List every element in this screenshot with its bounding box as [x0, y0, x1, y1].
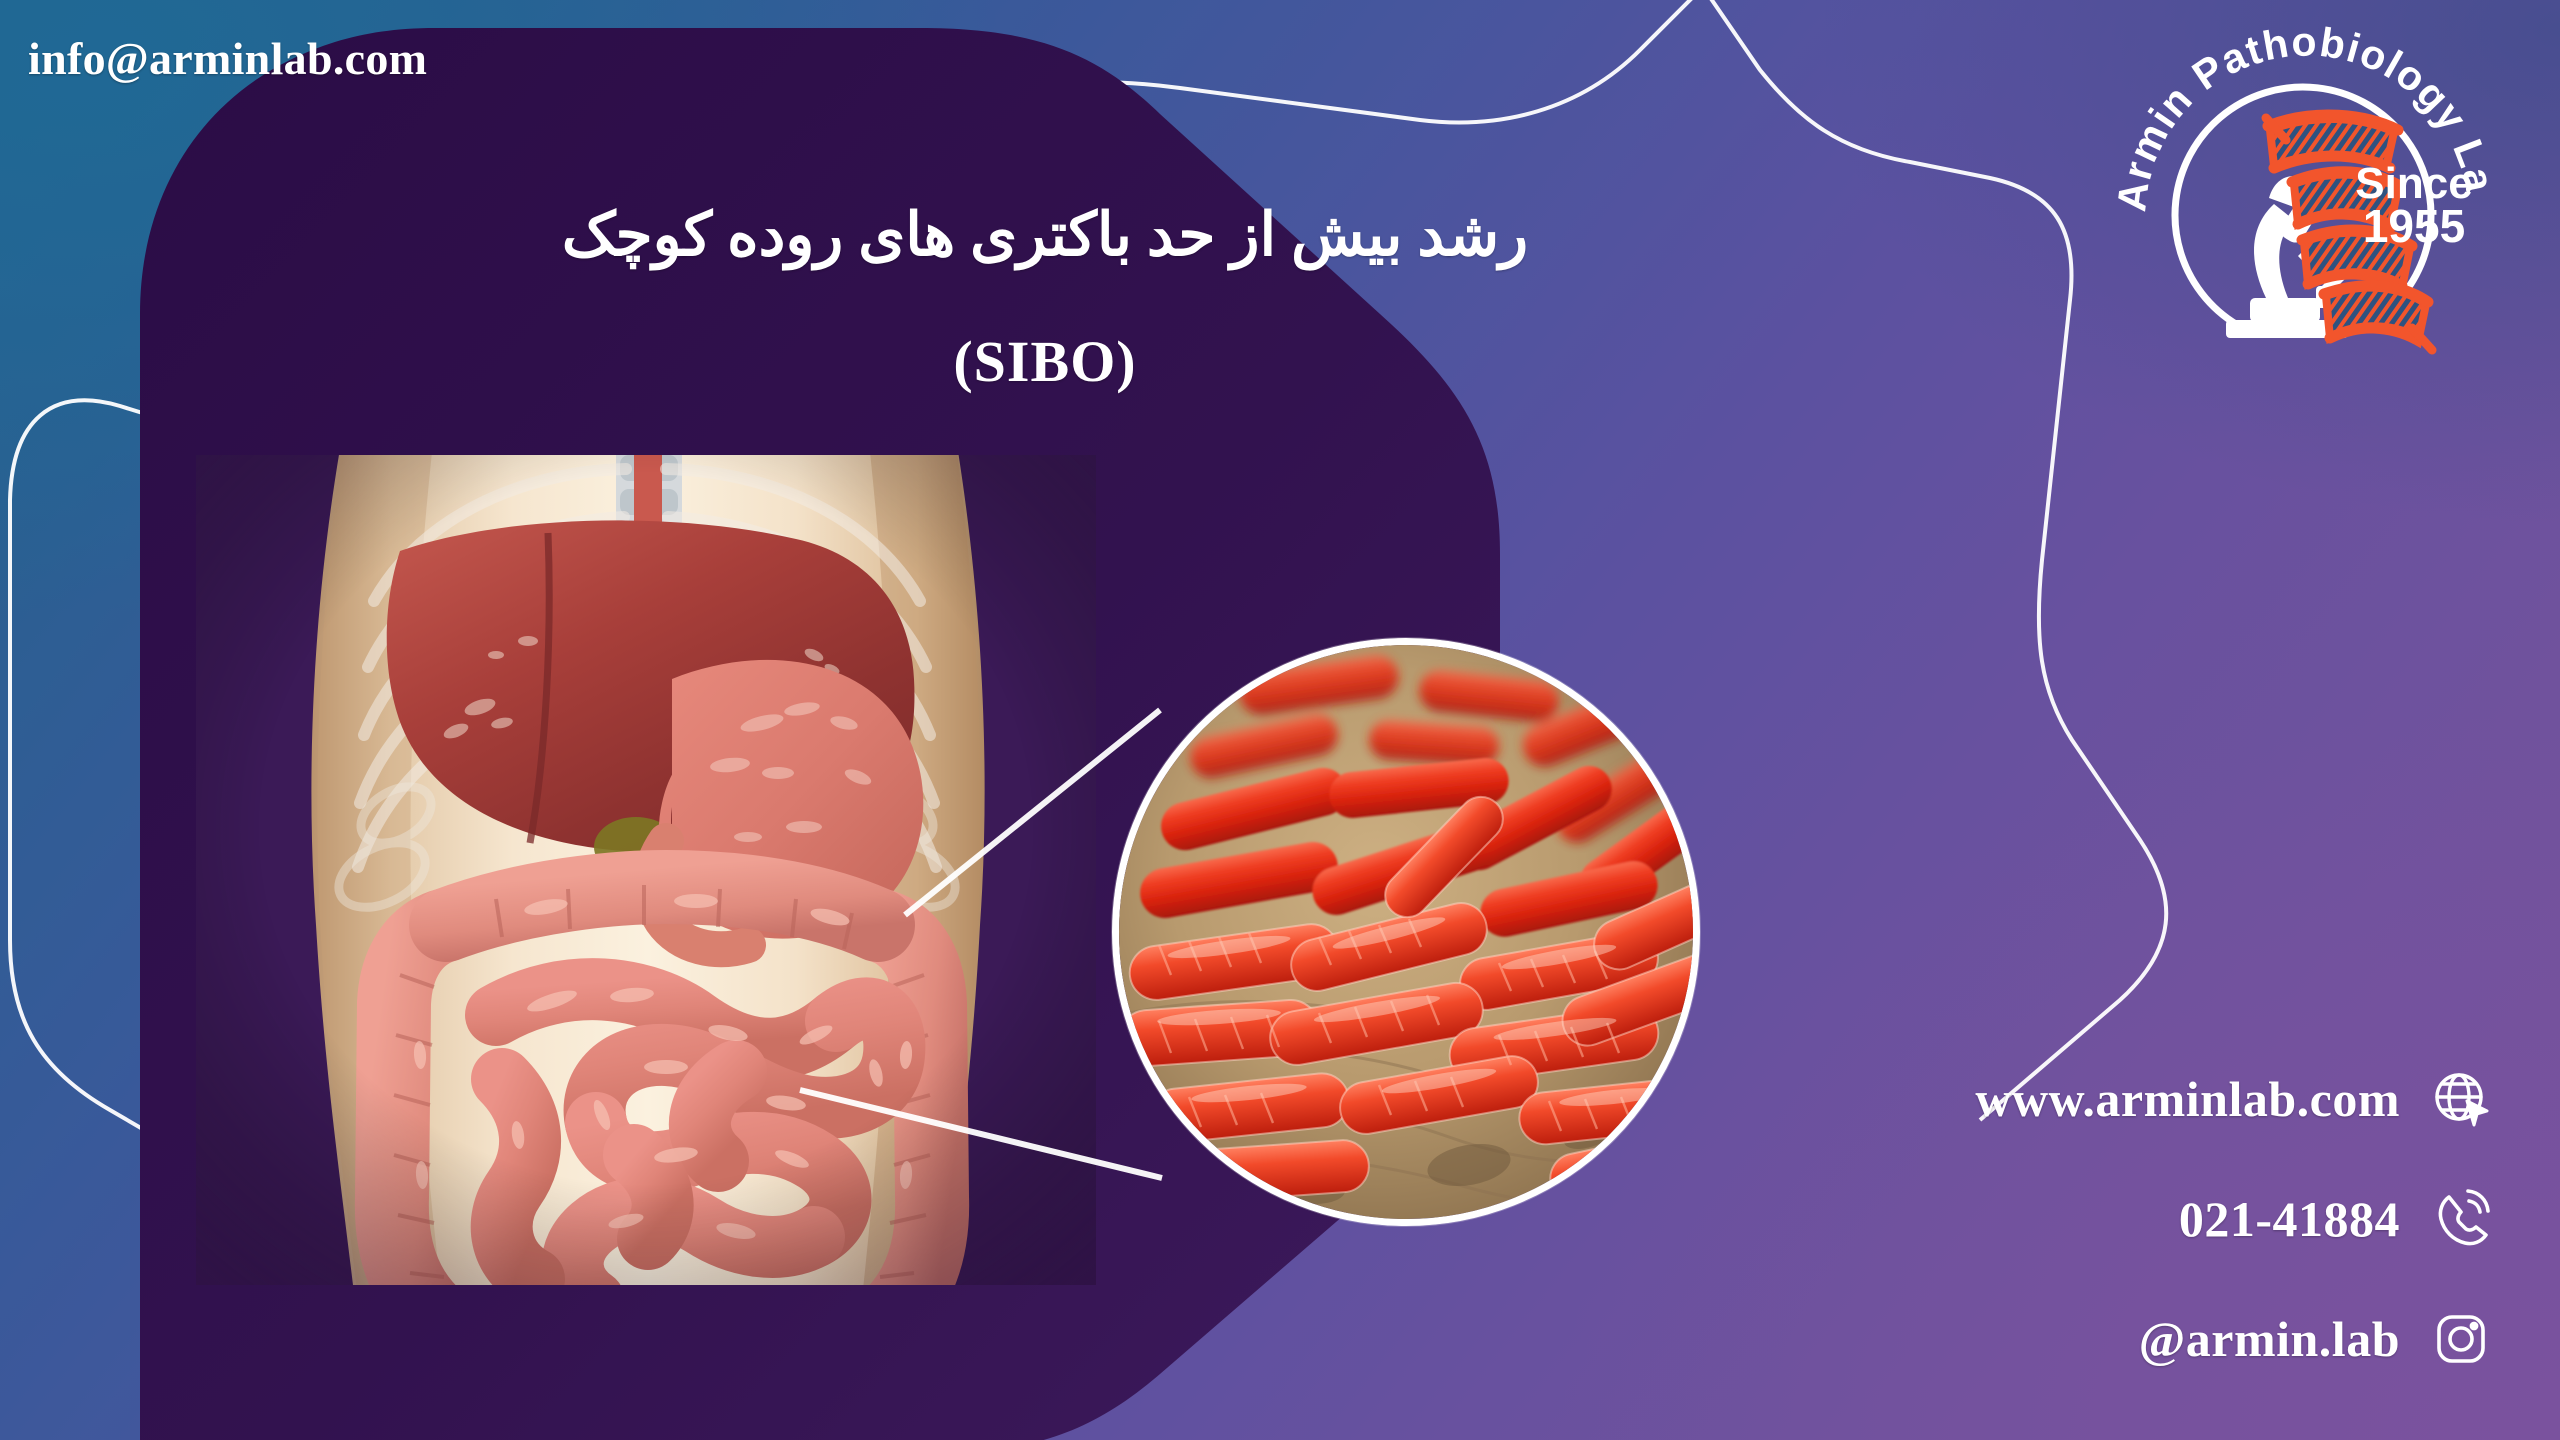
phone-number[interactable]: 021-41884 — [2179, 1190, 2400, 1248]
instagram-icon — [2428, 1306, 2494, 1372]
page-subtitle: (SIBO) — [430, 328, 1660, 395]
contact-block: www.arminlab.com 021-41884 — [1774, 1064, 2494, 1374]
page-title: رشد بیش از حد باکتری های روده کوچک — [430, 195, 1660, 276]
bacteria-magnifier-circle — [1112, 638, 1700, 1226]
contact-row-instagram[interactable]: @armin.lab — [1774, 1304, 2494, 1374]
anatomy-illustration — [196, 455, 1096, 1285]
logo-since-year: 1955 — [2363, 200, 2465, 252]
title-block: رشد بیش از حد باکتری های روده کوچک (SIBO… — [430, 195, 1660, 395]
poster-canvas: Armin Pathobiology Lab — [0, 0, 2560, 1440]
globe-cursor-icon — [2428, 1066, 2494, 1132]
armin-pathobiology-lab-logo: Armin Pathobiology Lab — [2098, 10, 2498, 410]
instagram-handle[interactable]: @armin.lab — [2139, 1310, 2400, 1368]
contact-row-phone[interactable]: 021-41884 — [1774, 1184, 2494, 1254]
phone-icon — [2428, 1186, 2494, 1252]
contact-row-website[interactable]: www.arminlab.com — [1774, 1064, 2494, 1134]
email-address[interactable]: info@arminlab.com — [28, 32, 427, 85]
website-url[interactable]: www.arminlab.com — [1975, 1070, 2400, 1128]
